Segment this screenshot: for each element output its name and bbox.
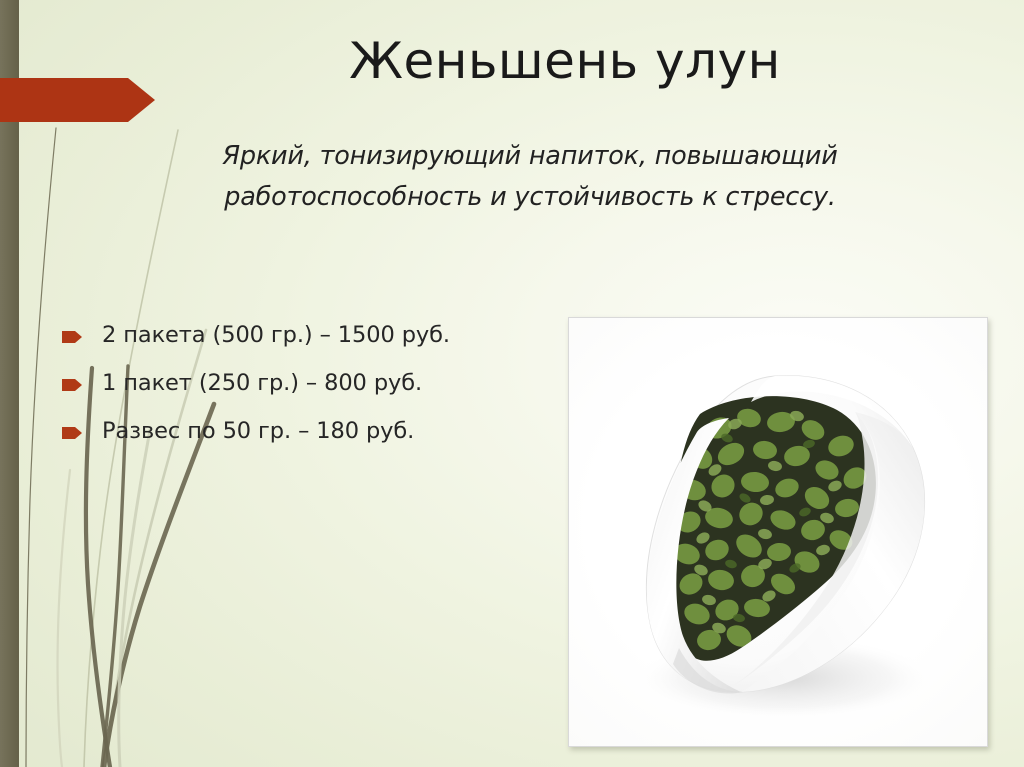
page-title: Женьшень улун — [150, 34, 980, 88]
list-item: 1 пакет (250 гр.) – 800 руб. — [62, 370, 532, 398]
arrow-bullet-icon — [62, 331, 82, 343]
product-image — [568, 317, 988, 747]
list-item-label: 2 пакета (500 гр.) – 1500 руб. — [102, 322, 450, 348]
price-list: 2 пакета (500 гр.) – 1500 руб. 1 пакет (… — [62, 322, 532, 466]
list-item: 2 пакета (500 гр.) – 1500 руб. — [62, 322, 532, 350]
arrow-bullet-icon — [62, 427, 82, 439]
subtitle-text: Яркий, тонизирующий напиток, повышающий … — [130, 136, 930, 219]
arrow-bullet-icon — [62, 379, 82, 391]
tea-bowl-illustration — [569, 318, 987, 746]
list-item-label: 1 пакет (250 гр.) – 800 руб. — [102, 370, 422, 396]
slide: Женьшень улун Яркий, тонизирующий напито… — [0, 0, 1024, 767]
list-item: Развес по 50 гр. – 180 руб. — [62, 418, 532, 446]
list-item-label: Развес по 50 гр. – 180 руб. — [102, 418, 414, 444]
red-arrow-banner — [0, 78, 155, 122]
